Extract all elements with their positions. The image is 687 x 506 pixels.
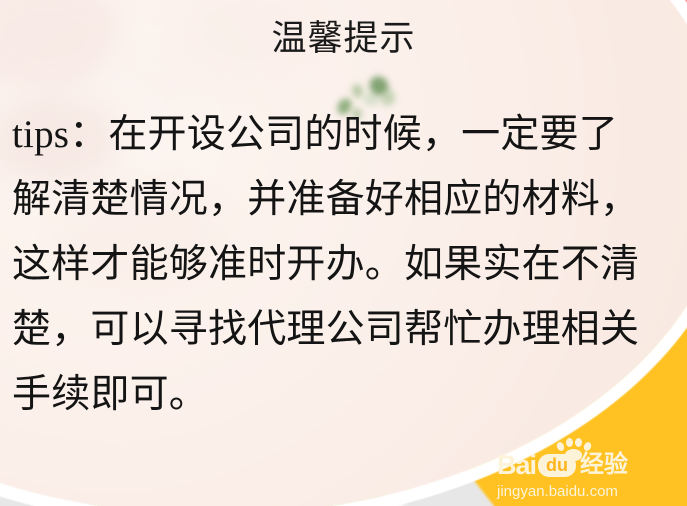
body-line: 手续即可。 — [12, 362, 680, 427]
baidu-jingyan-watermark: Bai du 经验 jingyan.baidu.com — [497, 450, 677, 500]
body-line: tips：在开设公司的时候，一定要了 — [12, 102, 680, 167]
body-line: 解清楚情况，并准备好相应的材料， — [12, 167, 680, 232]
tips-slide: 温馨提示 tips：在开设公司的时候，一定要了 解清楚情况，并准备好相应的材料，… — [0, 0, 687, 506]
page-title: 温馨提示 — [0, 17, 687, 61]
body-line: 这样才能够准时开办。如果实在不清 — [12, 232, 680, 297]
tips-body-text: tips：在开设公司的时候，一定要了 解清楚情况，并准备好相应的材料， 这样才能… — [12, 102, 680, 427]
watermark-bai-text: Bai — [497, 452, 536, 479]
body-line: 楚，可以寻找代理公司帮忙办理相关 — [12, 297, 680, 362]
paw-print-icon — [555, 438, 597, 460]
watermark-url: jingyan.baidu.com — [497, 483, 677, 500]
watermark-brand-row: Bai du 经验 — [497, 450, 677, 480]
